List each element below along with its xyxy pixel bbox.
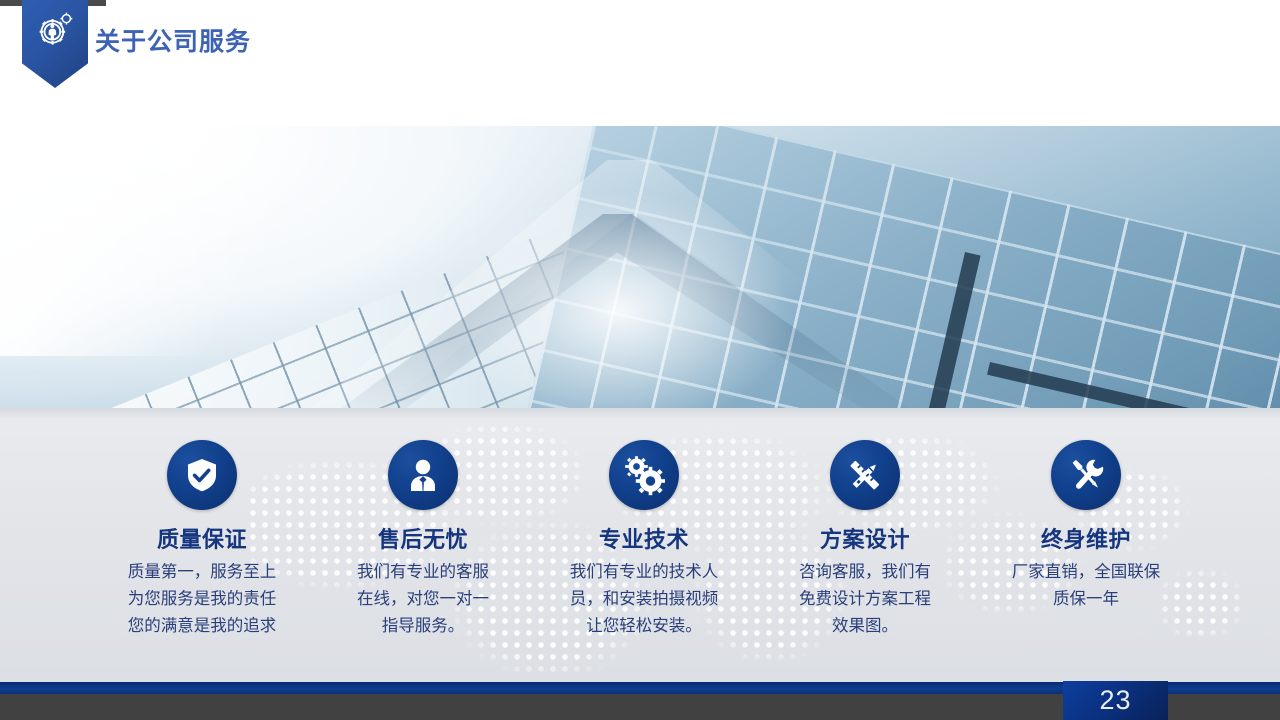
feature-body-line: 质保一年 (1012, 586, 1161, 613)
shield-check-icon (182, 455, 222, 495)
feature-body-line: 厂家直销，全国联保 (1012, 559, 1161, 586)
feature-title: 终身维护 (1041, 528, 1131, 552)
wrench-screwdriver-icon (1065, 454, 1107, 496)
gears-icon (623, 454, 665, 496)
feature-body-line: 我们有专业的技术人 (570, 559, 719, 586)
feature-item[interactable]: 质量保证 质量第一，服务至上 为您服务是我的责任 您的满意是我的追求 (96, 440, 308, 639)
feature-title: 质量保证 (157, 528, 247, 552)
photo-left-fade (0, 126, 340, 356)
feature-body-line: 咨询客服，我们有 (799, 559, 931, 586)
feature-title: 方案设计 (820, 528, 910, 552)
feature-icon-circle (609, 440, 679, 510)
feature-icon-circle (830, 440, 900, 510)
feature-body: 厂家直销，全国联保 质保一年 (1012, 559, 1161, 612)
feature-icon-circle (167, 440, 237, 510)
feature-body: 我们有专业的客服 在线，对您一对一 指导服务。 (357, 559, 489, 639)
ruler-pencil-icon (844, 454, 886, 496)
feature-body-line: 员，和安装拍摄视频 (570, 586, 719, 613)
feature-body-line: 在线，对您一对一 (357, 586, 489, 613)
feature-body: 咨询客服，我们有 免费设计方案工程 效果图。 (799, 559, 931, 639)
hero-building-photo (0, 126, 1280, 414)
feature-title: 售后无忧 (378, 528, 468, 552)
photo-highlight (440, 186, 800, 414)
feature-item[interactable]: 方案设计 咨询客服，我们有 免费设计方案工程 效果图。 (759, 440, 971, 639)
page-title: 关于公司服务 (95, 22, 251, 58)
features-list: 质量保证 质量第一，服务至上 为您服务是我的责任 您的满意是我的追求 售后无忧 … (96, 440, 1192, 670)
header-badge-pennant (22, 0, 88, 88)
person-support-icon (403, 455, 443, 495)
gear-person-icon (34, 9, 76, 51)
page-number: 23 (1099, 687, 1131, 714)
feature-item[interactable]: 终身维护 厂家直销，全国联保 质保一年 (980, 440, 1192, 613)
feature-body-line: 免费设计方案工程 (799, 586, 931, 613)
page-number-badge: 23 (1063, 681, 1168, 720)
feature-body-line: 我们有专业的客服 (357, 559, 489, 586)
feature-item[interactable]: 售后无忧 我们有专业的客服 在线，对您一对一 指导服务。 (317, 440, 529, 639)
feature-body: 我们有专业的技术人 员，和安装拍摄视频 让您轻松安装。 (570, 559, 719, 639)
feature-icon-circle (1051, 440, 1121, 510)
feature-body-line: 指导服务。 (357, 613, 489, 640)
feature-body-line: 效果图。 (799, 613, 931, 640)
feature-body-line: 让您轻松安装。 (570, 613, 719, 640)
feature-title: 专业技术 (599, 528, 689, 552)
feature-body: 质量第一，服务至上 为您服务是我的责任 您的满意是我的追求 (128, 559, 277, 639)
feature-body-line: 您的满意是我的追求 (128, 613, 277, 640)
feature-body-line: 质量第一，服务至上 (128, 559, 277, 586)
slide-root: 关于公司服务 质量保证 质量第一，服务至上 (0, 0, 1280, 720)
feature-body-line: 为您服务是我的责任 (128, 586, 277, 613)
feature-item[interactable]: 专业技术 我们有专业的技术人 员，和安装拍摄视频 让您轻松安装。 (538, 440, 750, 639)
feature-icon-circle (388, 440, 458, 510)
